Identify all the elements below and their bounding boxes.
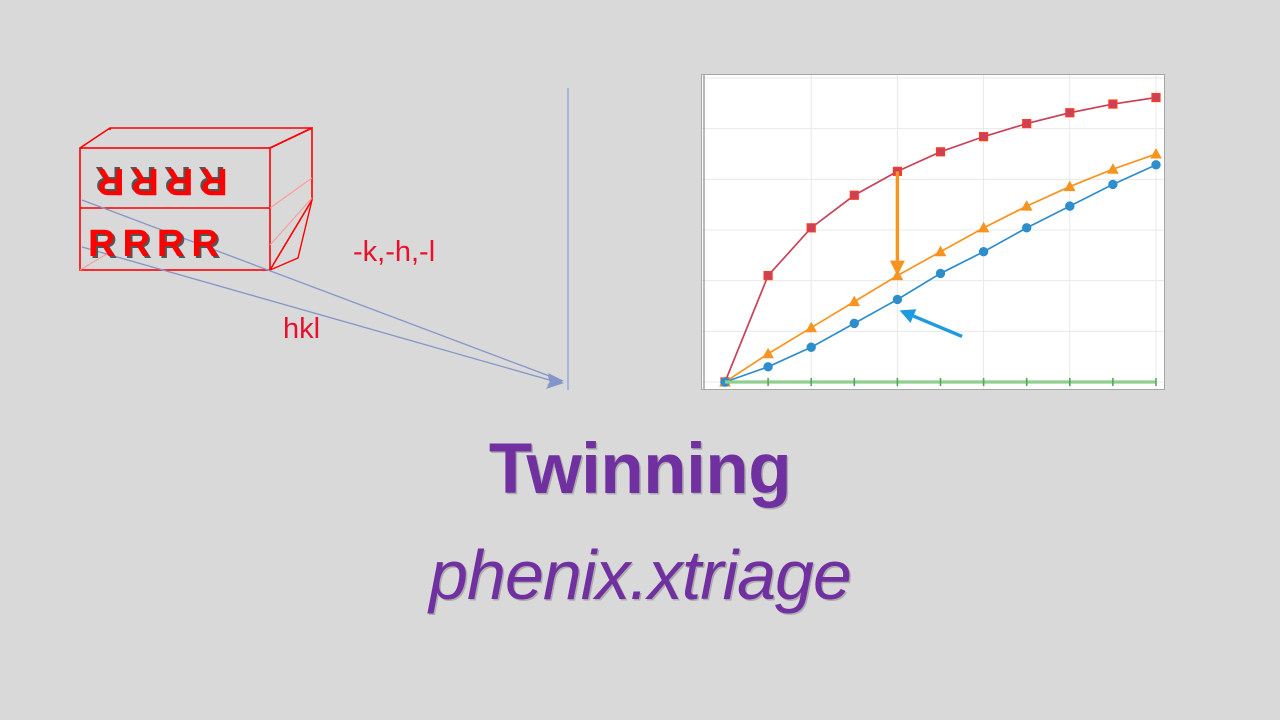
intensity-statistics-chart: [701, 74, 1165, 390]
data-point-marker: [1066, 202, 1074, 210]
label-reflection-main: hkl: [283, 315, 320, 344]
series-blue-curve: [721, 161, 1160, 387]
chart-gridlines: [702, 75, 1164, 389]
data-point-marker: [980, 133, 988, 141]
data-point-marker: [936, 269, 944, 277]
data-point-marker: [1109, 180, 1117, 188]
data-point-marker: [979, 223, 989, 232]
data-point-marker: [850, 319, 858, 327]
chart-series-layer: [720, 94, 1161, 387]
data-point-marker: [893, 295, 901, 303]
orange-arrow-down: [890, 171, 905, 275]
data-point-marker: [1022, 201, 1032, 210]
data-point-marker: [849, 297, 859, 306]
slide-canvas: RRRR RRRR -k,-h,-l hkl Twinning phenix.x…: [0, 0, 1280, 720]
data-point-marker: [1023, 120, 1031, 128]
chart-annotations-layer: [890, 171, 962, 336]
label-reflection-twin: -k,-h,-l: [353, 238, 435, 267]
data-point-marker: [1151, 149, 1161, 158]
page-subtitle: phenix.xtriage: [0, 540, 1280, 610]
data-point-marker: [764, 363, 772, 371]
data-point-marker: [850, 191, 858, 199]
data-point-marker: [979, 248, 987, 256]
series-line: [725, 154, 1156, 382]
data-point-marker: [807, 343, 815, 351]
data-point-marker: [763, 349, 773, 358]
data-point-marker: [937, 148, 945, 156]
data-point-marker: [764, 272, 772, 280]
data-point-marker: [936, 247, 946, 256]
twin-domain-letters-bottom: RRRR: [88, 225, 226, 263]
beam-hkl: [82, 247, 560, 383]
series-orange-curve: [720, 149, 1161, 386]
twin-domain-letters-top: RRRR: [90, 162, 228, 200]
page-title: Twinning: [0, 434, 1280, 505]
series-line: [725, 98, 1156, 382]
data-point-marker: [1152, 161, 1160, 169]
chart-plot-area: [702, 75, 1164, 389]
arrow-shaft: [913, 316, 962, 336]
twinned-crystal-diagram: RRRR RRRR -k,-h,-l hkl: [40, 70, 660, 410]
data-point-marker: [1109, 100, 1117, 108]
series-baseline-zero: [725, 378, 1156, 386]
data-point-marker: [1023, 224, 1031, 232]
data-point-marker: [806, 323, 816, 332]
blue-arrow-pointer: [900, 309, 963, 336]
data-point-marker: [1152, 94, 1160, 102]
data-point-marker: [1066, 109, 1074, 117]
data-point-marker: [807, 224, 815, 232]
